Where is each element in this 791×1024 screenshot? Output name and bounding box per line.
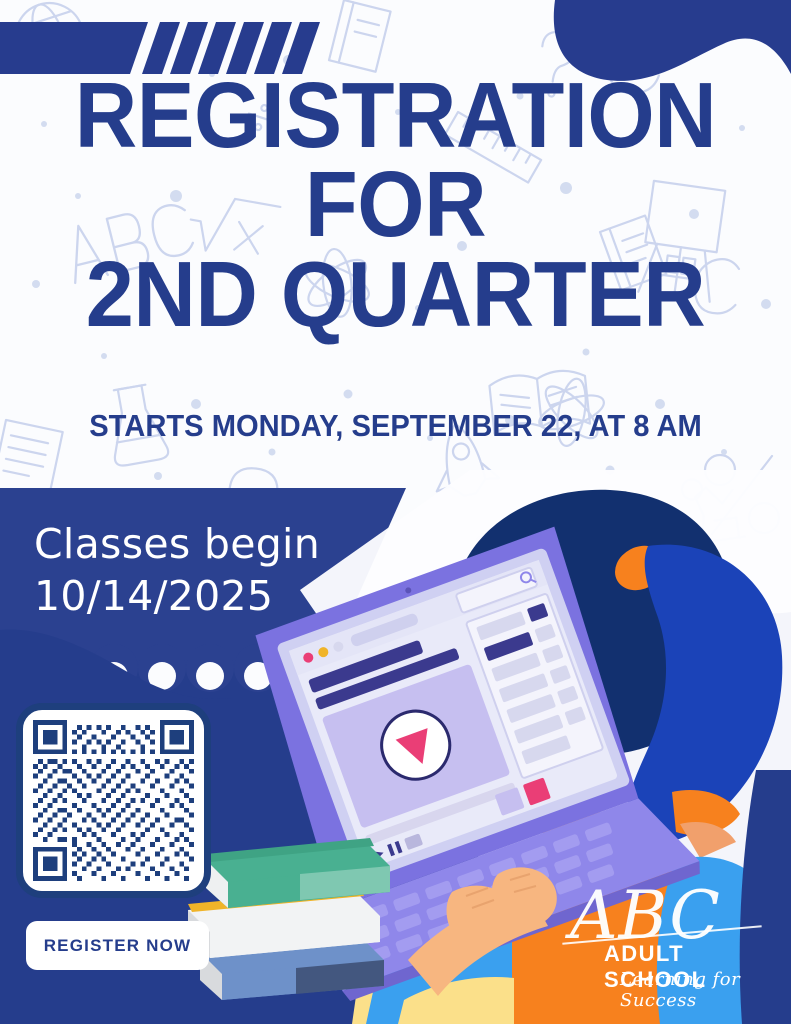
headline-block: REGISTRATION FOR 2ND QUARTER bbox=[0, 72, 791, 338]
subheadline-start-date: STARTS MONDAY, SEPTEMBER 22, AT 8 AM bbox=[24, 408, 768, 444]
books-stack bbox=[188, 838, 390, 1000]
qr-code[interactable] bbox=[33, 720, 194, 881]
logo-tagline: Learning for Success bbox=[620, 969, 781, 1011]
headline-line-1: REGISTRATION bbox=[28, 72, 764, 159]
register-now-button[interactable]: REGISTER NOW bbox=[26, 921, 209, 970]
qr-code-card[interactable] bbox=[16, 703, 211, 898]
abc-adult-school-logo: ABC ADULT SCHOOL Learning for Success bbox=[556, 887, 781, 1007]
poster-canvas: REGISTRATION FOR 2ND QUARTER STARTS MOND… bbox=[0, 0, 791, 1024]
classes-begin-date: 10/14/2025 bbox=[34, 570, 320, 622]
classes-begin-panel: Classes begin 10/14/2025 bbox=[34, 518, 320, 623]
classes-begin-label: Classes begin bbox=[34, 518, 320, 570]
headline-line-3: 2ND QUARTER bbox=[28, 251, 764, 338]
headline-line-2: FOR bbox=[28, 161, 764, 248]
